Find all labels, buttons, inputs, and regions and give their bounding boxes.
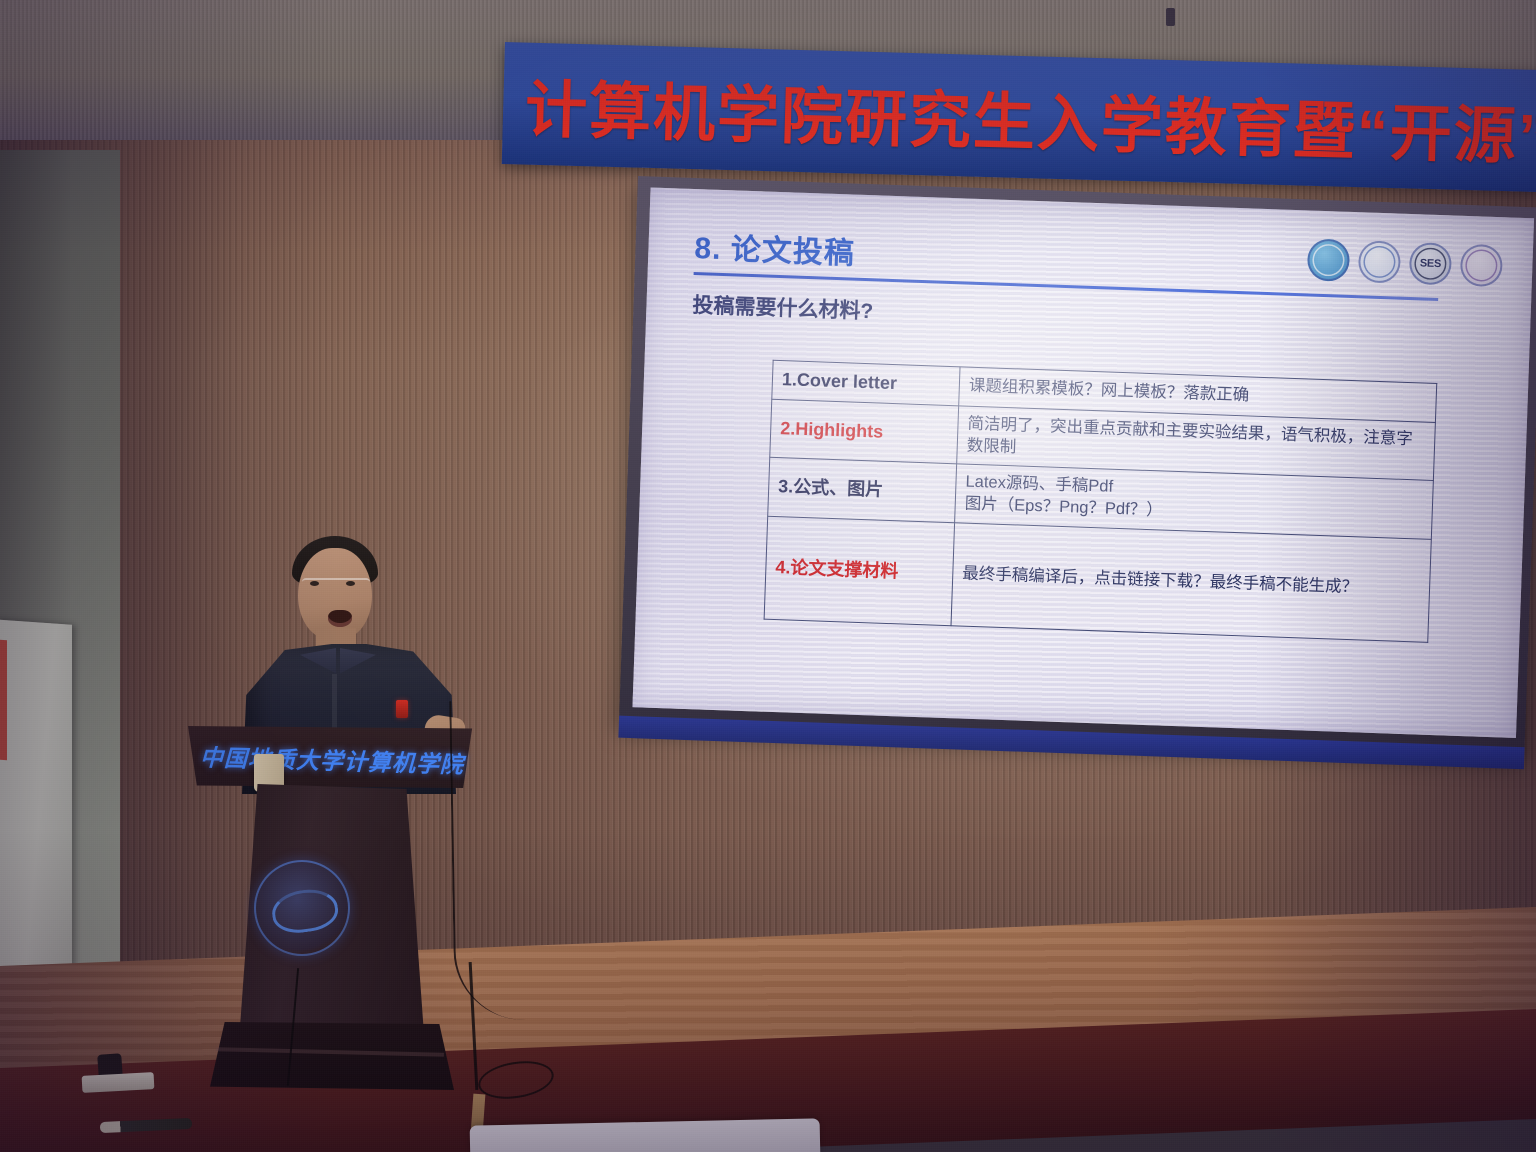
row-2-label: 2.Highlights — [770, 399, 959, 464]
lab-group-seal-icon — [1460, 244, 1503, 287]
ceiling-fixture-icon — [1166, 8, 1175, 26]
materials-table: 1.Cover letter 课题组积累模板？网上模板？落款正确 2.Highl… — [764, 360, 1438, 643]
row-4-value: 最终手稿编译后，点击链接下载？最终手稿不能生成？ — [951, 523, 1431, 643]
speaker-eye-right — [346, 581, 355, 586]
lecture-hall-photo: 计算机学院研究生入学教育暨“开源” 8. 论文投稿 投稿需要什么材料? SES … — [0, 0, 1536, 1152]
china-university-of-geosciences-computer-school-emblem-icon — [254, 860, 350, 956]
row-3-label: 3.公式、图片 — [768, 458, 957, 523]
logo-1-text — [1312, 244, 1345, 277]
slide-logo-row: SES — [1307, 238, 1503, 287]
speaker-eye-left — [310, 581, 319, 586]
podium: 中国地质大学计算机学院 — [182, 726, 478, 1096]
logo-4-text — [1465, 249, 1498, 282]
row-4-label: 4.论文支撑材料 — [764, 516, 954, 625]
logo-3-text: SES — [1414, 247, 1447, 280]
speaker-badge — [396, 700, 408, 718]
projection-screen-surface: 8. 论文投稿 投稿需要什么材料? SES 1.Cover letter 课题组… — [632, 187, 1534, 738]
event-banner-text: 计算机学院研究生入学教育暨“开源” — [524, 59, 1536, 177]
computer-science-school-seal-icon — [1358, 240, 1401, 283]
speaker-mouth — [328, 610, 352, 627]
speaker-figure — [236, 524, 466, 754]
slide-content: 8. 论文投稿 投稿需要什么材料? SES 1.Cover letter 课题组… — [632, 187, 1534, 738]
row-1-label: 1.Cover letter — [772, 360, 960, 405]
panel-red-stripe — [0, 640, 7, 760]
projection-screen-frame: 8. 论文投稿 投稿需要什么材料? SES 1.Cover letter 课题组… — [619, 176, 1536, 755]
university-seal-blue-icon — [1307, 238, 1350, 281]
ses-seal-icon: SES — [1409, 242, 1452, 285]
table-row: 4.论文支撑材料 最终手稿编译后，点击链接下载？最终手稿不能生成？ — [764, 516, 1431, 642]
logo-2-text — [1363, 245, 1396, 278]
